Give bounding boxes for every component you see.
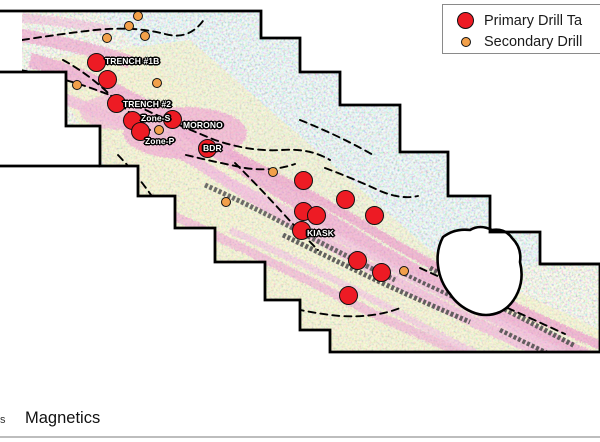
caption-clipped-glyph: s — [0, 415, 6, 426]
secondary-drill-target[interactable] — [154, 125, 164, 135]
map-label-trench-1b: TRENCH #1B — [104, 56, 160, 66]
figure-caption: Magnetics — [25, 409, 100, 428]
primary-drill-target[interactable] — [348, 251, 367, 270]
map-legend: Primary Drill Ta Secondary Drill — [442, 4, 600, 54]
map-label-zone-s: Zone-S — [140, 113, 171, 123]
primary-target-icon — [457, 12, 474, 29]
magnetics-map[interactable]: TRENCH #1B TRENCH #2 Zone-S MORONO Zone-… — [0, 0, 600, 400]
primary-drill-target[interactable] — [98, 70, 117, 89]
primary-drill-target[interactable] — [336, 190, 355, 209]
map-label-bdr: BDR — [202, 143, 223, 153]
primary-drill-target[interactable] — [87, 53, 106, 72]
legend-swatch-wrap — [457, 12, 474, 29]
secondary-drill-target[interactable] — [221, 197, 231, 207]
primary-drill-target[interactable] — [339, 286, 358, 305]
map-label-morono: MORONO — [182, 120, 224, 130]
map-label-kiaska: KIASK — [306, 228, 335, 238]
primary-drill-target[interactable] — [372, 263, 391, 282]
secondary-drill-target[interactable] — [102, 33, 112, 43]
map-label-trench-2: TRENCH #2 — [122, 99, 172, 109]
map-label-zone-p: Zone-P — [144, 136, 175, 146]
bottom-divider — [0, 436, 600, 438]
legend-label-secondary: Secondary Drill — [484, 34, 582, 50]
secondary-drill-target[interactable] — [72, 80, 82, 90]
secondary-drill-target[interactable] — [268, 167, 278, 177]
secondary-drill-target[interactable] — [133, 11, 143, 21]
secondary-drill-target[interactable] — [140, 31, 150, 41]
legend-item-primary-drill-target: Primary Drill Ta — [457, 10, 600, 31]
primary-drill-target[interactable] — [365, 206, 384, 225]
secondary-target-icon — [461, 37, 471, 47]
legend-item-secondary-drill-target: Secondary Drill — [457, 31, 600, 52]
secondary-drill-target[interactable] — [399, 266, 409, 276]
secondary-drill-target[interactable] — [152, 78, 162, 88]
legend-swatch-wrap — [457, 37, 474, 47]
figure-root: TRENCH #1B TRENCH #2 Zone-S MORONO Zone-… — [0, 0, 600, 442]
primary-drill-target[interactable] — [307, 206, 326, 225]
legend-label-primary: Primary Drill Ta — [484, 13, 582, 29]
primary-drill-target[interactable] — [294, 171, 313, 190]
secondary-drill-target[interactable] — [124, 21, 134, 31]
